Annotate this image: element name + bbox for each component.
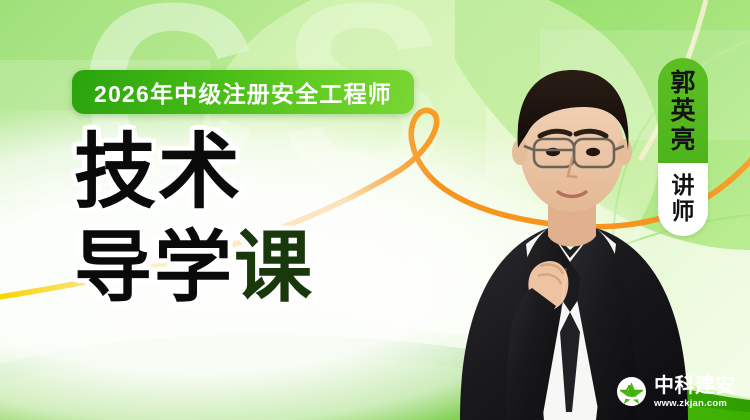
brand-text: 中科建安 www.zkjan.com <box>654 376 736 409</box>
instructor-role-char: 师 <box>672 199 695 223</box>
brand-logo[interactable]: 中科建安 www.zkjan.com <box>616 376 736 409</box>
brand-name: 中科建安 <box>654 376 736 396</box>
headline-line-2: 导 学 课 <box>74 228 314 306</box>
brand-url: www.zkjan.com <box>654 399 736 409</box>
course-banner: CSE <box>0 0 750 420</box>
headline-char-accent: 课 <box>234 228 314 306</box>
instructor-role-char: 讲 <box>672 173 695 197</box>
headline-char: 学 <box>154 228 234 306</box>
instructor-role: 讲 师 <box>658 163 708 236</box>
headline: 技 术 导 学 课 <box>74 132 314 306</box>
course-tag-label: 2026年中级注册安全工程师 <box>94 75 392 109</box>
course-tag-badge[interactable]: 2026年中级注册安全工程师 <box>72 70 414 114</box>
instructor-name: 郭 英 亮 <box>658 58 708 163</box>
headline-char: 导 <box>74 228 154 306</box>
instructor-name-char: 郭 <box>670 70 695 96</box>
headline-char: 术 <box>158 132 242 214</box>
instructor-name-badge: 郭 英 亮 讲 师 <box>658 58 708 236</box>
brand-logo-icon <box>616 376 647 407</box>
instructor-name-char: 英 <box>670 98 695 124</box>
headline-line-1: 技 术 <box>74 132 314 214</box>
headline-char: 技 <box>74 132 158 214</box>
instructor-name-char: 亮 <box>670 127 695 153</box>
